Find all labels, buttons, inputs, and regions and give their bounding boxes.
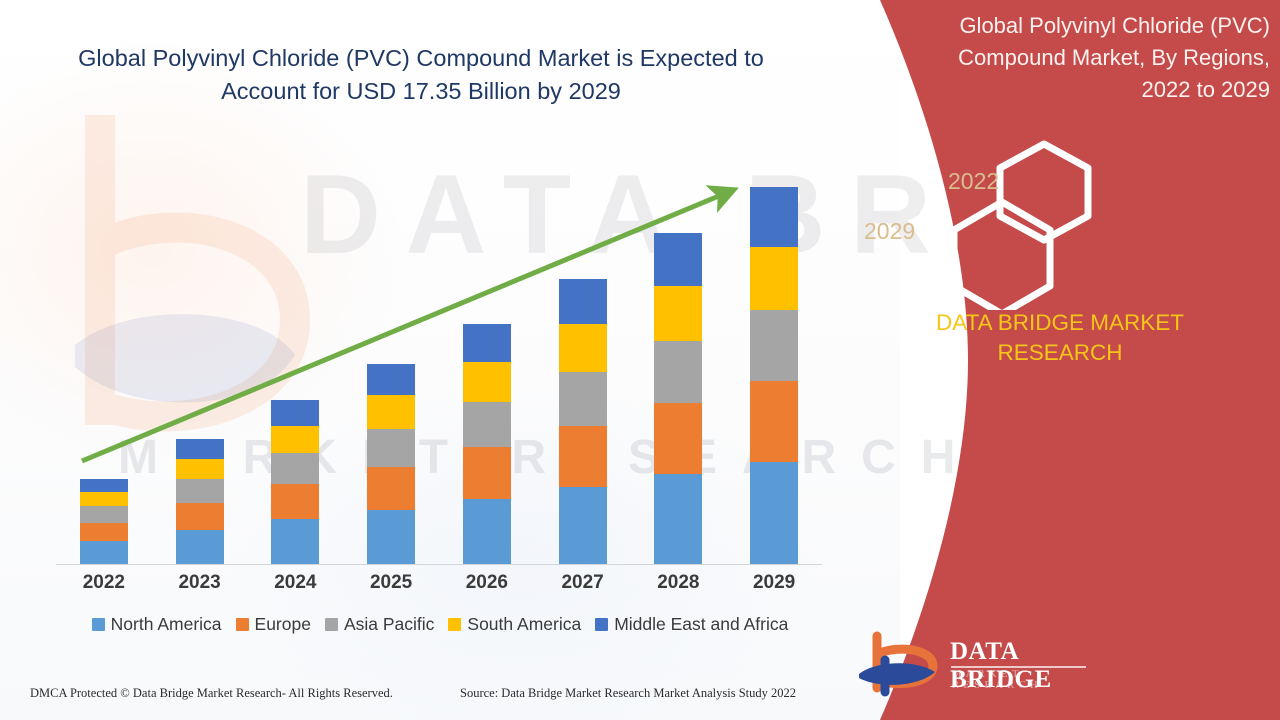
bar-segment[interactable] bbox=[80, 523, 128, 541]
legend-label: North America bbox=[111, 614, 222, 635]
legend-item[interactable]: South America bbox=[448, 614, 581, 635]
logo-subtitle: MARKET RESEARCH bbox=[952, 669, 1095, 691]
bar-segment[interactable] bbox=[559, 279, 607, 324]
legend-swatch bbox=[325, 618, 338, 631]
bar-segment[interactable] bbox=[80, 506, 128, 522]
bar-segment[interactable] bbox=[367, 395, 415, 428]
bar-stack bbox=[271, 400, 319, 564]
bar-segment[interactable] bbox=[367, 510, 415, 564]
bar-segment[interactable] bbox=[80, 541, 128, 564]
bar-segment[interactable] bbox=[463, 362, 511, 402]
right-panel: Global Polyvinyl Chloride (PVC) Compound… bbox=[840, 0, 1280, 720]
legend-label: South America bbox=[467, 614, 581, 635]
hexagon-label-end: 2029 bbox=[864, 218, 915, 245]
x-axis-label: 2028 bbox=[631, 572, 726, 594]
legend-swatch bbox=[236, 618, 249, 631]
dmca-notice: DMCA Protected © Data Bridge Market Rese… bbox=[30, 686, 393, 701]
bar-segment[interactable] bbox=[176, 459, 224, 479]
brand-name: DATA BRIDGE MARKET RESEARCH bbox=[880, 308, 1240, 368]
bar-segment[interactable] bbox=[559, 324, 607, 371]
x-axis-label: 2024 bbox=[248, 572, 343, 594]
bar-segment[interactable] bbox=[271, 519, 319, 564]
bar-segment[interactable] bbox=[559, 487, 607, 564]
chart-plot-area bbox=[56, 150, 822, 565]
legend-swatch bbox=[92, 618, 105, 631]
bar-stack bbox=[559, 279, 607, 564]
bar-segment[interactable] bbox=[750, 462, 798, 564]
bar-segment[interactable] bbox=[750, 310, 798, 381]
legend-label: Europe bbox=[255, 614, 311, 635]
bar-segment[interactable] bbox=[559, 372, 607, 426]
panel-title: Global Polyvinyl Chloride (PVC) Compound… bbox=[910, 10, 1270, 106]
bar-segment[interactable] bbox=[750, 187, 798, 247]
bar-column[interactable] bbox=[152, 152, 247, 564]
bar-stack bbox=[654, 233, 702, 564]
x-axis-line bbox=[56, 564, 822, 565]
bar-segment[interactable] bbox=[367, 429, 415, 467]
bar-column[interactable] bbox=[439, 152, 534, 564]
bar-column[interactable] bbox=[535, 152, 630, 564]
hexagon-badges bbox=[940, 140, 1170, 310]
bar-segment[interactable] bbox=[463, 324, 511, 362]
hexagon-label-start: 2022 bbox=[948, 168, 999, 195]
bar-column[interactable] bbox=[344, 152, 439, 564]
legend-item[interactable]: Europe bbox=[236, 614, 311, 635]
legend-item[interactable]: Middle East and Africa bbox=[595, 614, 788, 635]
bar-column[interactable] bbox=[727, 152, 822, 564]
bar-segment[interactable] bbox=[463, 499, 511, 564]
x-axis-label: 2027 bbox=[535, 572, 630, 594]
bar-segment[interactable] bbox=[80, 479, 128, 492]
bar-segment[interactable] bbox=[176, 530, 224, 564]
source-note: Source: Data Bridge Market Research Mark… bbox=[460, 686, 796, 701]
bar-segment[interactable] bbox=[463, 402, 511, 447]
bar-stack bbox=[367, 364, 415, 564]
x-axis-label: 2022 bbox=[56, 572, 151, 594]
chart-legend: North AmericaEuropeAsia PacificSouth Ame… bbox=[56, 614, 824, 635]
legend-label: Middle East and Africa bbox=[614, 614, 788, 635]
bar-segment[interactable] bbox=[654, 341, 702, 403]
bar-segment[interactable] bbox=[463, 447, 511, 499]
bar-segment[interactable] bbox=[271, 453, 319, 484]
bar-segment[interactable] bbox=[654, 286, 702, 341]
bar-segment[interactable] bbox=[176, 439, 224, 459]
bar-segment[interactable] bbox=[176, 503, 224, 530]
bar-stack bbox=[80, 479, 128, 564]
bar-segment[interactable] bbox=[176, 479, 224, 503]
legend-item[interactable]: Asia Pacific bbox=[325, 614, 434, 635]
x-axis-labels: 20222023202420252026202720282029 bbox=[56, 572, 822, 594]
x-axis-label: 2025 bbox=[344, 572, 439, 594]
bar-group bbox=[56, 152, 822, 564]
bar-segment[interactable] bbox=[271, 400, 319, 426]
infographic-slide: DATA BRIDGE MARKET RESEARCH Global Polyv… bbox=[0, 0, 1280, 720]
bar-segment[interactable] bbox=[367, 364, 415, 396]
bar-segment[interactable] bbox=[654, 474, 702, 564]
legend-swatch bbox=[448, 618, 461, 631]
bar-segment[interactable] bbox=[559, 426, 607, 487]
bar-segment[interactable] bbox=[750, 247, 798, 309]
bar-segment[interactable] bbox=[271, 484, 319, 520]
legend-swatch bbox=[595, 618, 608, 631]
x-axis-label: 2026 bbox=[439, 572, 534, 594]
bar-stack bbox=[463, 324, 511, 564]
bar-stack bbox=[176, 439, 224, 564]
x-axis-label: 2029 bbox=[727, 572, 822, 594]
bar-segment[interactable] bbox=[654, 233, 702, 286]
bar-stack bbox=[750, 187, 798, 564]
x-axis-label: 2023 bbox=[152, 572, 247, 594]
legend-label: Asia Pacific bbox=[344, 614, 434, 635]
bar-segment[interactable] bbox=[271, 426, 319, 453]
logo-divider bbox=[951, 666, 1086, 668]
bar-segment[interactable] bbox=[367, 467, 415, 510]
chart-title: Global Polyvinyl Chloride (PVC) Compound… bbox=[56, 42, 786, 109]
bar-segment[interactable] bbox=[80, 492, 128, 506]
bar-column[interactable] bbox=[631, 152, 726, 564]
bar-segment[interactable] bbox=[750, 381, 798, 462]
company-logo: DATA BRIDGE MARKET RESEARCH bbox=[855, 630, 1095, 700]
bar-column[interactable] bbox=[248, 152, 343, 564]
bar-segment[interactable] bbox=[654, 403, 702, 474]
bar-column[interactable] bbox=[56, 152, 151, 564]
legend-item[interactable]: North America bbox=[92, 614, 222, 635]
